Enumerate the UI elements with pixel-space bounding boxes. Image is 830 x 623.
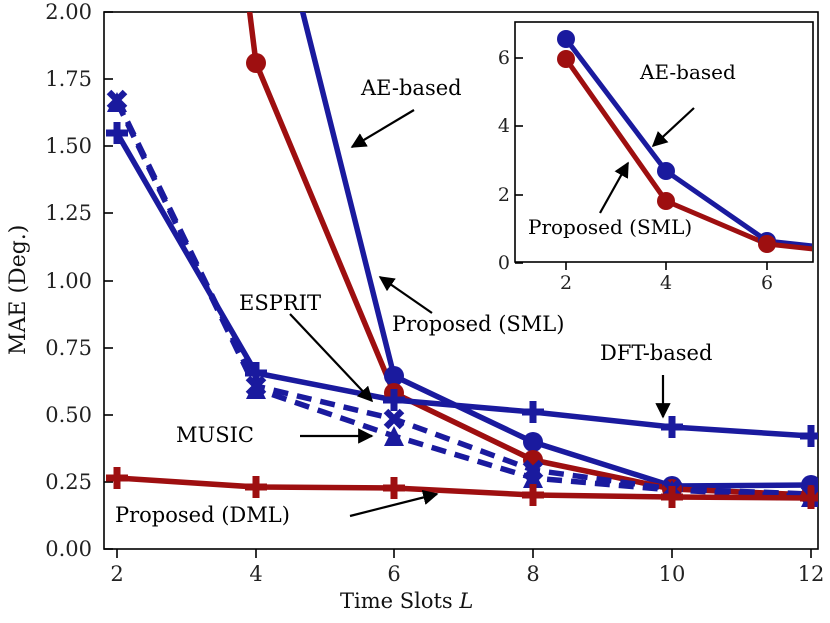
inset-y-tick-label-0: 0 (494, 252, 510, 274)
y-tick-label-5: 1.25 (20, 201, 92, 225)
y-tick-label-8: 2.00 (20, 0, 92, 24)
arrow-proposed-sml (380, 277, 432, 313)
y-tick-label-1: 0.25 (20, 470, 92, 494)
annotation-esprit: ESPRIT (239, 291, 321, 315)
inset-x-tick-label-1: 4 (652, 272, 680, 294)
y-tick-label-6: 1.50 (20, 134, 92, 158)
inset-annotation-ae-based: AE-based (640, 60, 736, 84)
y-tick-label-7: 1.75 (20, 67, 92, 91)
x-tick-label-5: 12 (786, 562, 830, 586)
inset-x-tick-label-0: 2 (552, 272, 580, 294)
annotation-music: MUSIC (176, 423, 254, 447)
figure-canvas: 0.00 0.25 0.50 0.75 1.00 1.25 1.50 1.75 … (0, 0, 830, 623)
x-tick-label-4: 10 (647, 562, 697, 586)
x-axis-title: Time Slots L (340, 589, 473, 613)
arrow-ae-based (352, 110, 414, 147)
inset-y-tick-label-1: 2 (494, 184, 510, 206)
y-tick-label-0: 0.00 (20, 537, 92, 561)
inset-y-tick-label-2: 4 (494, 115, 510, 137)
inset-annotation-proposed-sml: Proposed (SML) (528, 215, 692, 239)
inset-y-tick-label-3: 6 (494, 47, 510, 69)
annotation-dft-based: DFT-based (600, 341, 712, 365)
annotation-proposed-dml: Proposed (DML) (115, 503, 290, 527)
x-axis-title-text: Time Slots (340, 589, 459, 613)
inset-x-tick-marks (566, 262, 767, 270)
x-tick-label-0: 2 (92, 562, 142, 586)
x-tick-marks (117, 549, 811, 558)
y-axis-title: MAE (Deg.) (6, 225, 31, 355)
x-axis-title-symbol: L (459, 589, 473, 613)
annotation-proposed-sml: Proposed (SML) (392, 312, 564, 336)
x-tick-label-2: 6 (369, 562, 419, 586)
annotation-ae-based: AE-based (361, 76, 462, 100)
y-tick-label-2: 0.50 (20, 403, 92, 427)
inset-x-tick-label-2: 6 (753, 272, 781, 294)
x-tick-label-3: 8 (508, 562, 558, 586)
x-tick-label-1: 4 (231, 562, 281, 586)
